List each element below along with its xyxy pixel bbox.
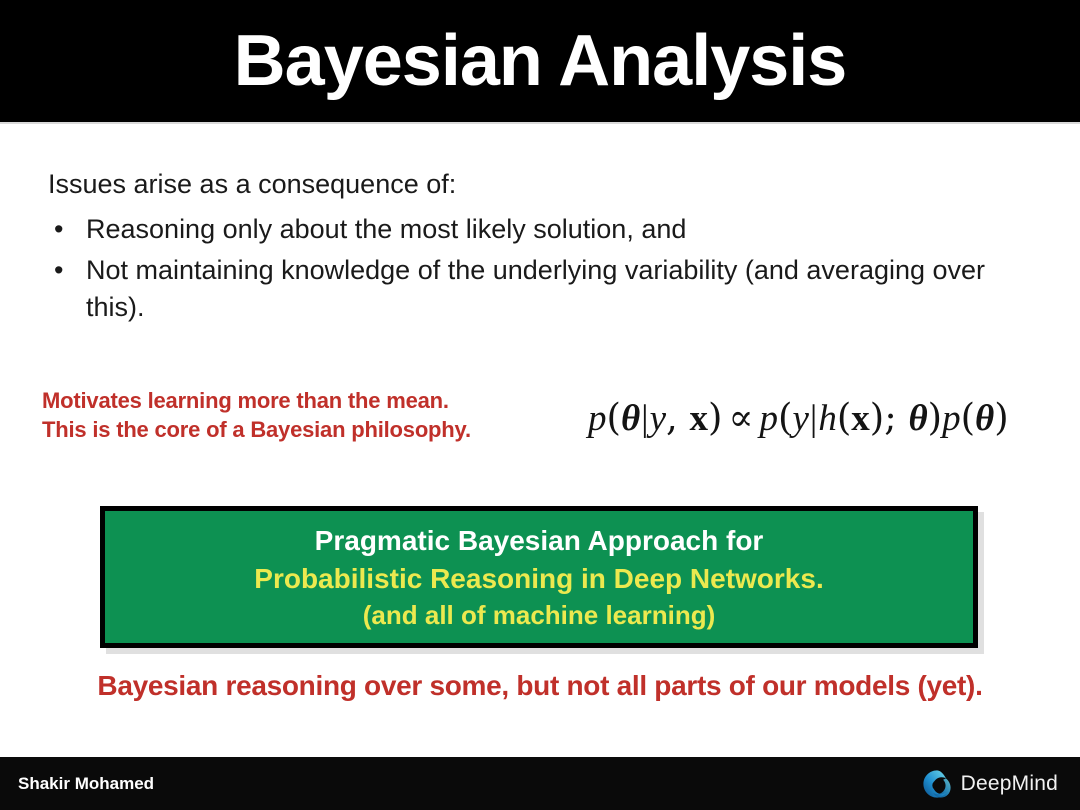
- eq-comma: ,: [666, 396, 690, 439]
- list-item-label: Reasoning only about the most likely sol…: [86, 214, 686, 244]
- eq-semicolon: ;: [884, 396, 908, 439]
- page-title: Bayesian Analysis: [234, 25, 847, 97]
- eq-paren-close-3: ): [928, 396, 942, 439]
- motivation-line-2: This is the core of a Bayesian philosoph…: [42, 415, 562, 444]
- bottom-note: Bayesian reasoning over some, but not al…: [0, 670, 1080, 702]
- eq-bar: |: [640, 398, 649, 439]
- callout-line-2: Probabilistic Reasoning in Deep Networks…: [254, 560, 823, 598]
- eq-theta-3: θ: [975, 398, 994, 439]
- eq-paren-close-4: ): [994, 396, 1008, 439]
- lead-text: Issues arise as a consequence of:: [48, 168, 1038, 201]
- brand-name: DeepMind: [961, 772, 1058, 796]
- brand-lockup: DeepMind: [922, 769, 1058, 799]
- motivation-block: Motivates learning more than the mean. T…: [42, 386, 562, 445]
- author-name: Shakir Mohamed: [18, 774, 154, 794]
- motivation-line-1: Motivates learning more than the mean.: [42, 386, 562, 415]
- footer-bar: Shakir Mohamed DeepMind: [0, 757, 1080, 810]
- eq-theta: θ: [621, 398, 640, 439]
- bullet-list: • Reasoning only about the most likely s…: [48, 211, 1038, 327]
- eq-paren-open-3: (: [837, 396, 851, 439]
- eq-paren-open-4: (: [961, 396, 975, 439]
- eq-proportional-symbol: ∝: [722, 396, 759, 439]
- eq-p: p: [588, 398, 607, 439]
- callout-line-1: Pragmatic Bayesian Approach for: [315, 522, 764, 560]
- title-banner: Bayesian Analysis: [0, 0, 1080, 122]
- slide-root: Bayesian Analysis Issues arise as a cons…: [0, 0, 1080, 810]
- banner-divider: [0, 122, 1080, 124]
- deepmind-spiral-icon: [922, 769, 952, 799]
- list-item: • Not maintaining knowledge of the under…: [48, 252, 1038, 327]
- eq-y2: y: [792, 398, 808, 439]
- eq-x: x: [690, 398, 709, 439]
- eq-bar-2: |: [809, 398, 818, 439]
- eq-x2: x: [851, 398, 870, 439]
- callout-line-3: (and all of machine learning): [363, 598, 716, 633]
- eq-paren-close: ): [708, 396, 722, 439]
- eq-h: h: [818, 398, 837, 439]
- bullet-dot-icon: •: [54, 252, 63, 289]
- eq-paren-open-2: (: [778, 396, 792, 439]
- bullet-dot-icon: •: [54, 211, 63, 248]
- body-content: Issues arise as a consequence of: • Reas…: [48, 168, 1038, 331]
- eq-p2: p: [760, 398, 779, 439]
- list-item-label: Not maintaining knowledge of the underly…: [86, 255, 985, 322]
- eq-paren-open: (: [607, 396, 621, 439]
- eq-theta-2: θ: [908, 398, 927, 439]
- bayes-equation: p(θ|y, x)∝p(y|h(x); θ)p(θ): [588, 398, 1058, 440]
- list-item: • Reasoning only about the most likely s…: [48, 211, 1038, 248]
- eq-paren-close-2: ): [870, 396, 884, 439]
- eq-p3: p: [942, 398, 961, 439]
- green-callout-box: Pragmatic Bayesian Approach for Probabil…: [100, 506, 978, 648]
- eq-y: y: [650, 398, 666, 439]
